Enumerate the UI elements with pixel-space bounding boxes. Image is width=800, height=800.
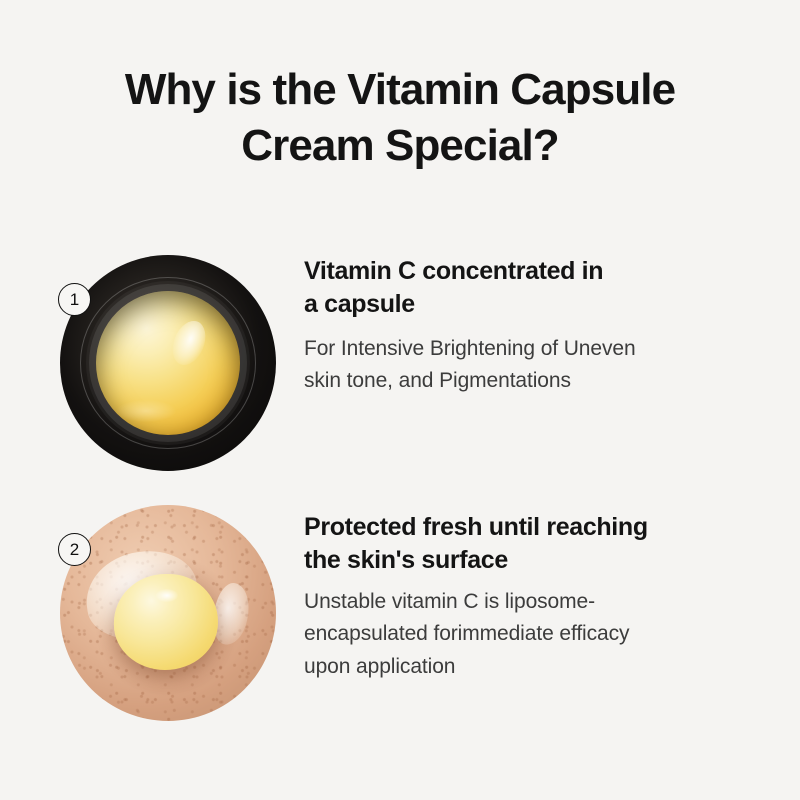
step-badge-1-number: 1	[70, 291, 79, 308]
page-title-line-2: Cream Special?	[40, 118, 760, 174]
capsule-dome	[96, 291, 240, 435]
feature-1-image	[60, 255, 276, 471]
feature-1-body-line-1: For Intensive Brightening of Uneven	[304, 337, 636, 360]
feature-2-title: Protected fresh until reaching the skin'…	[304, 511, 750, 578]
feature-1-copy: Vitamin C concentrated in a capsule For …	[304, 255, 750, 398]
feature-2-body-line-3: upon application	[304, 655, 455, 678]
feature-2-body-line-1: Unstable vitamin C is liposome-	[304, 590, 595, 613]
feature-2-title-line-2: the skin's surface	[304, 546, 508, 574]
feature-2-image	[60, 505, 276, 721]
infographic-page: Why is the Vitamin Capsule Cream Special…	[0, 0, 800, 800]
feature-1-body-line-2: skin tone, and Pigmentations	[304, 369, 571, 392]
feature-2-body-line-2: encapsulated forimmediate efficacy	[304, 622, 629, 645]
page-title: Why is the Vitamin Capsule Cream Special…	[40, 62, 760, 175]
feature-1-body: For Intensive Brightening of Uneven skin…	[304, 333, 750, 398]
feature-1-title-line-1: Vitamin C concentrated in	[304, 257, 603, 285]
capsule-blob	[114, 574, 218, 670]
step-badge-2-number: 2	[70, 541, 79, 558]
feature-1-title: Vitamin C concentrated in a capsule	[304, 255, 750, 322]
feature-2-title-line-1: Protected fresh until reaching	[304, 513, 648, 541]
feature-2-copy: Protected fresh until reaching the skin'…	[304, 511, 750, 683]
feature-1-title-line-2: a capsule	[304, 290, 415, 318]
page-title-line-1: Why is the Vitamin Capsule	[40, 62, 760, 118]
step-badge-1: 1	[58, 283, 91, 316]
step-badge-2: 2	[58, 533, 91, 566]
feature-2-body: Unstable vitamin C is liposome- encapsul…	[304, 586, 750, 684]
